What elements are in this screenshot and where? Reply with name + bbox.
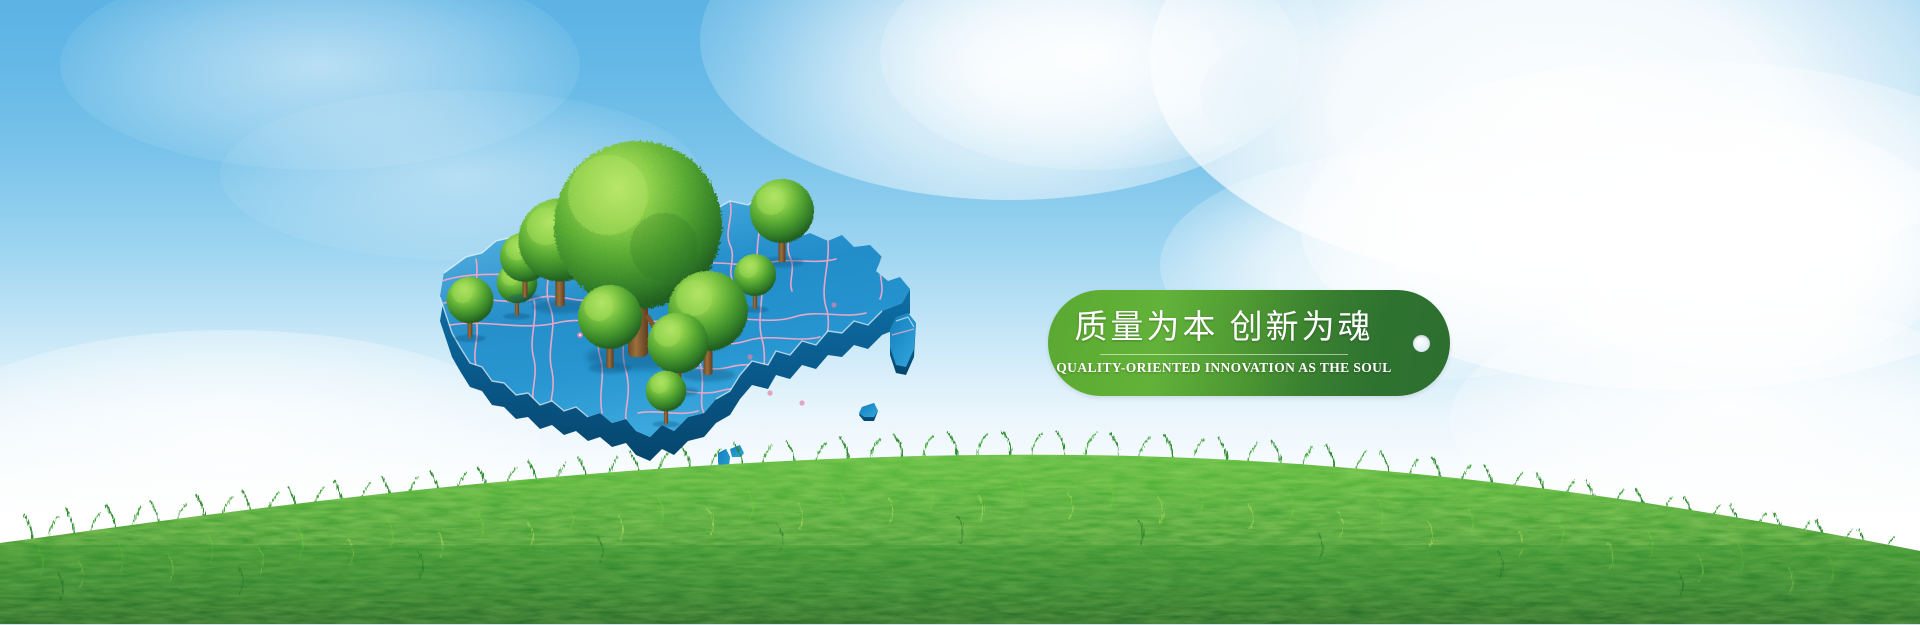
slogan-divider (1100, 354, 1348, 355)
slogan-badge[interactable]: 质量为本 创新为魂 QUALITY-ORIENTED INNOVATION AS… (1048, 290, 1450, 396)
hero-banner: 质量为本 创新为魂 QUALITY-ORIENTED INNOVATION AS… (0, 0, 1920, 625)
slogan-subline-en: QUALITY-ORIENTED INNOVATION AS THE SOUL (1056, 361, 1391, 375)
badge-hole-icon (1413, 335, 1430, 352)
taiwan-island (890, 313, 916, 375)
slogan-badge-content: 质量为本 创新为魂 QUALITY-ORIENTED INNOVATION AS… (1048, 290, 1400, 396)
hainan-island (859, 403, 878, 421)
slogan-headline-cn: 质量为本 创新为魂 (1074, 312, 1373, 345)
grass-foreground (0, 425, 1920, 625)
